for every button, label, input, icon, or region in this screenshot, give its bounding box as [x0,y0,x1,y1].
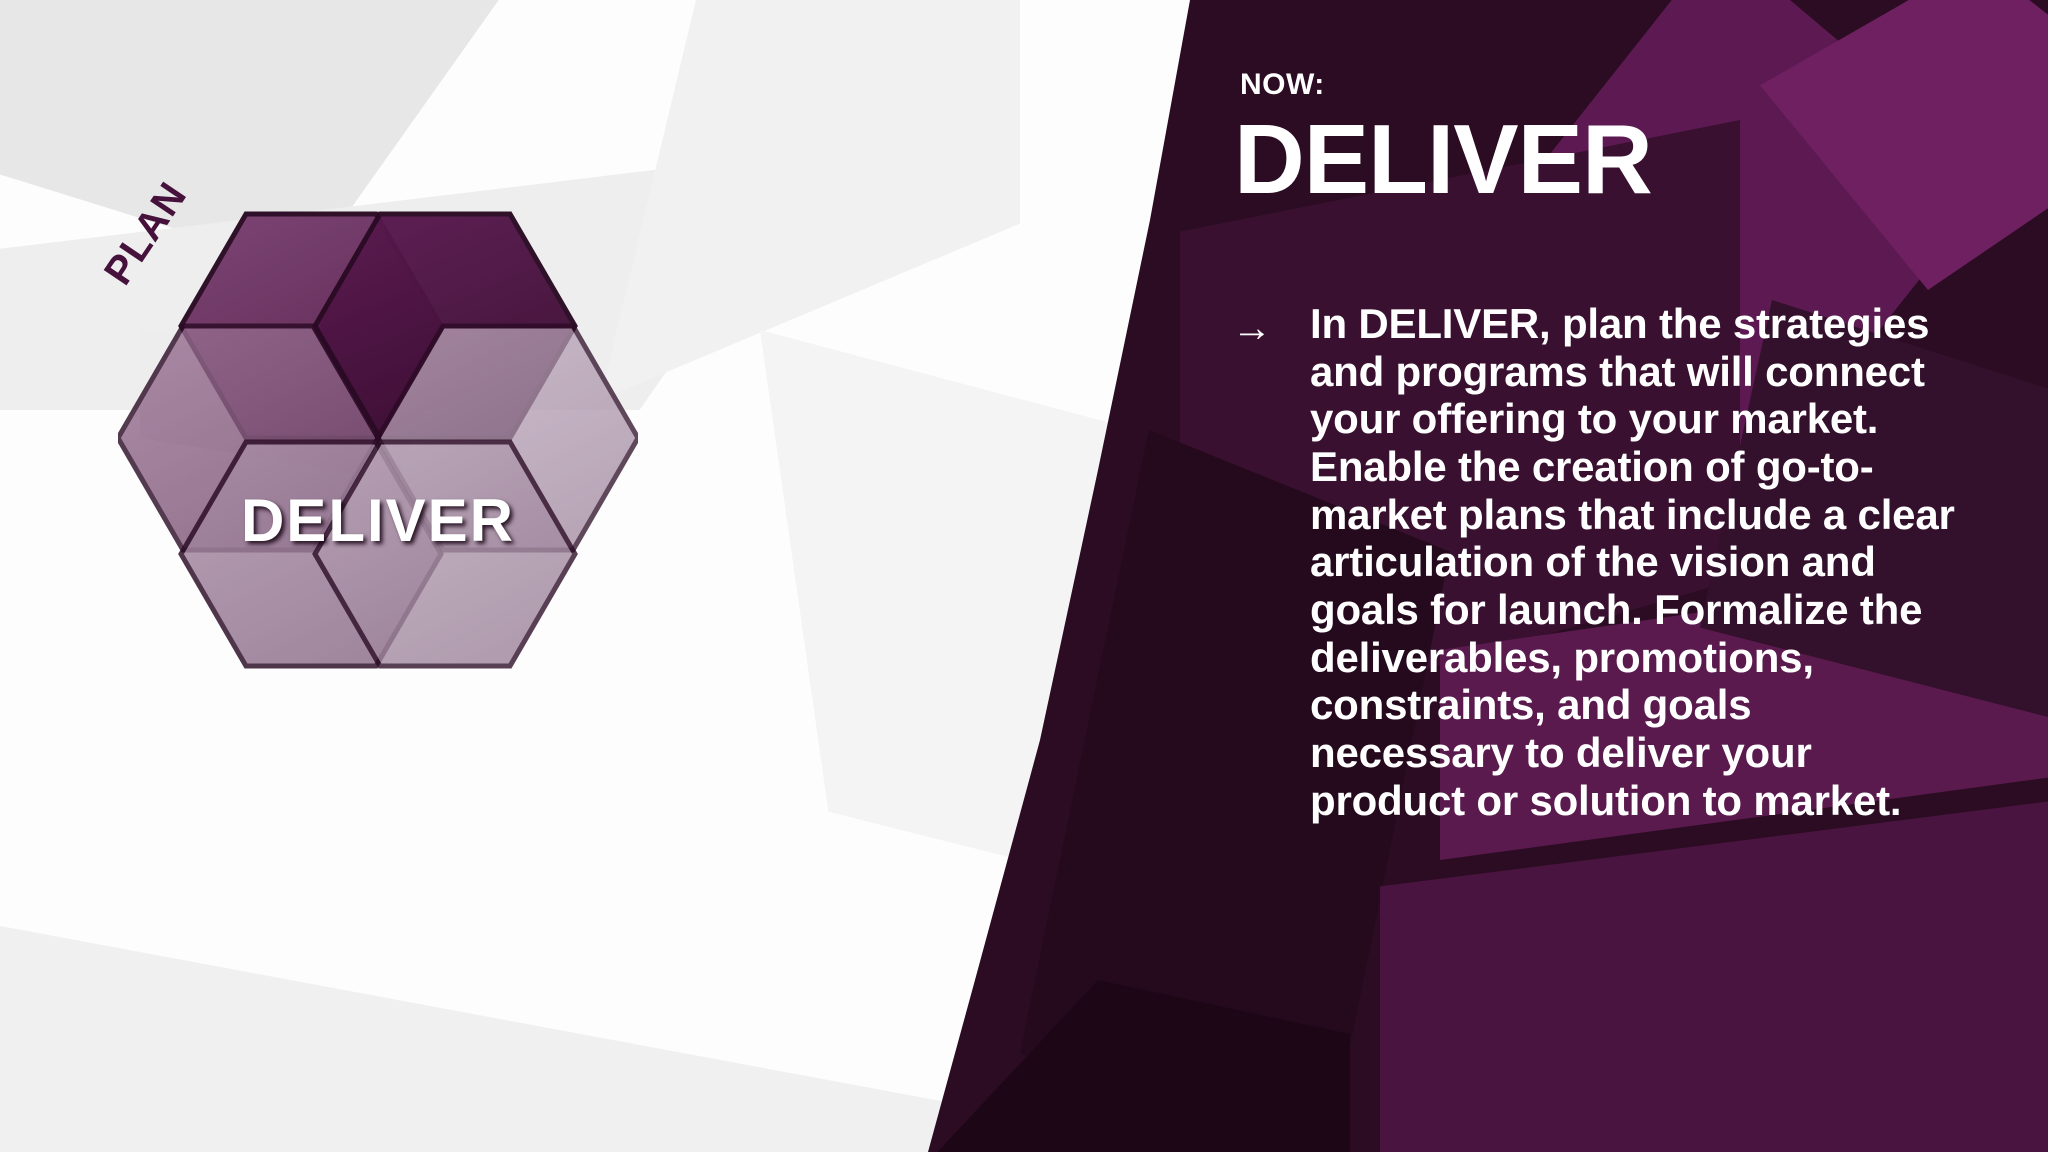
bullet-item: → In DELIVER, plan the strategies and pr… [1232,300,1962,824]
hexagon-logo: DELIVER [118,196,638,836]
slide-content: NOW: DELIVER → In DELIVER, plan the stra… [1232,0,1962,1152]
background-facet-light [0,890,1000,1152]
slide-canvas: PLAN [0,0,2048,1152]
page-title: DELIVER [1234,110,1652,210]
background-facet-light [600,0,1020,400]
eyebrow-label: NOW: [1240,68,1325,102]
bullet-body-text: In DELIVER, plan the strategies and prog… [1310,300,1962,824]
arrow-right-icon: → [1232,300,1310,354]
